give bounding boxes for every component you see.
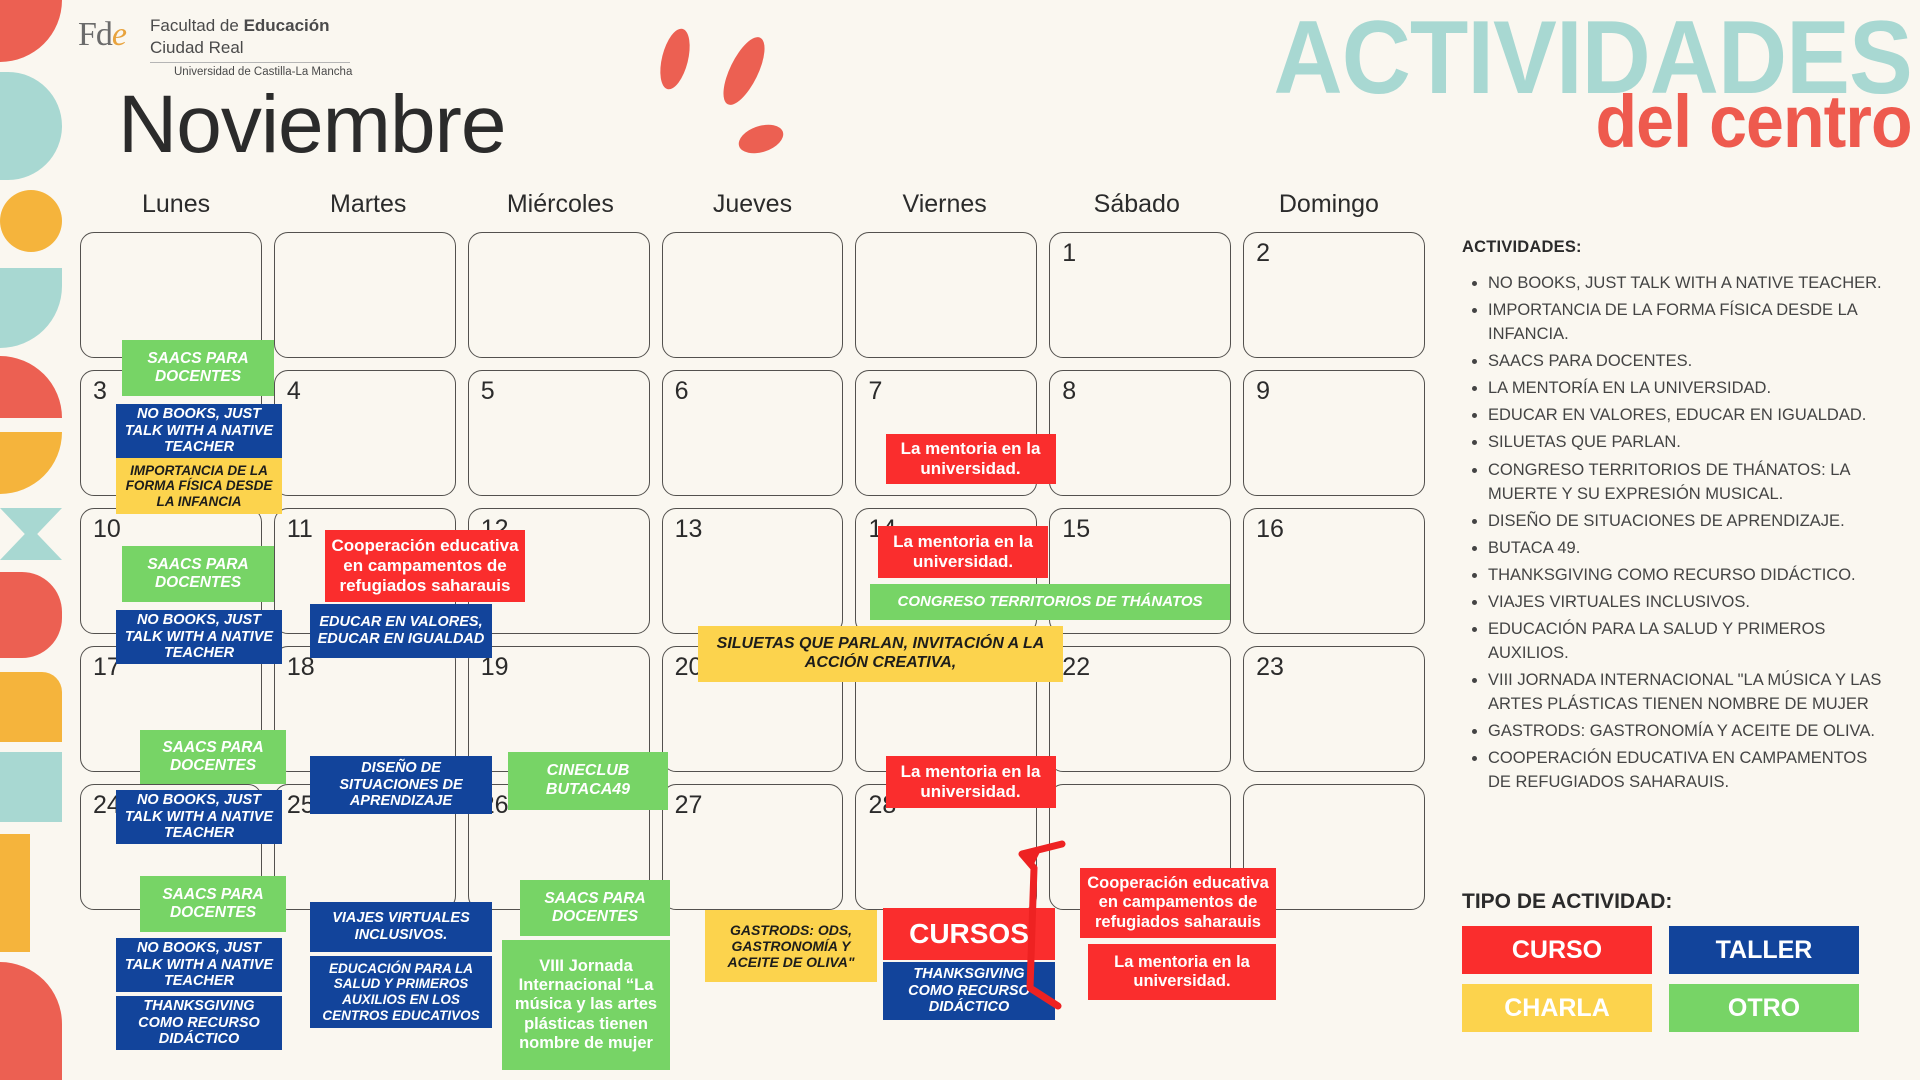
legend-item-charla[interactable]: CHARLA [1462, 984, 1652, 1032]
decorative-side-strip [0, 0, 62, 1080]
list-item: EDUCAR EN VALORES, EDUCAR EN IGUALDAD. [1488, 403, 1892, 427]
day-number: 9 [1256, 377, 1270, 406]
petal-icon-1 [655, 26, 695, 92]
day-cell[interactable]: 8 [1049, 370, 1231, 496]
day-cell[interactable] [662, 232, 844, 358]
logo-monogram-e: e [112, 16, 126, 53]
deco-shape-teal-half [0, 72, 62, 180]
day-cell[interactable]: 27 [662, 784, 844, 910]
deco-shape-red-wedge [0, 356, 62, 418]
day-cell[interactable]: 23 [1243, 646, 1425, 772]
petal-icon-2 [715, 32, 773, 111]
logo-line-1-pre: Facultad de [150, 16, 244, 35]
day-number: 1 [1062, 239, 1076, 268]
list-item: GASTRODS: GASTRONOMÍA Y ACEITE DE OLIVA. [1488, 719, 1892, 743]
day-number: 23 [1256, 653, 1284, 682]
arrow-icon [1010, 838, 1070, 1018]
day-number: 22 [1062, 653, 1090, 682]
logo-divider [150, 62, 350, 63]
day-number: 13 [675, 515, 703, 544]
deco-shape-teal-quarter [0, 268, 62, 348]
event-chip[interactable]: EDUCACIÓN PARA LA SALUD Y PRIMEROS AUXIL… [310, 956, 492, 1028]
day-cell[interactable] [468, 232, 650, 358]
calendar-week-row: 1 2 [80, 232, 1425, 358]
day-cell[interactable]: 6 [662, 370, 844, 496]
event-chip[interactable]: La mentoria en la universidad. [886, 434, 1056, 484]
day-number: 5 [481, 377, 495, 406]
day-number: 10 [93, 515, 121, 544]
list-item: LA MENTORÍA EN LA UNIVERSIDAD. [1488, 376, 1892, 400]
day-cell[interactable]: 1 [1049, 232, 1231, 358]
event-chip[interactable]: NO BOOKS, JUST TALK WITH A NATIVE TEACHE… [116, 790, 282, 844]
legend-item-curso[interactable]: CURSO [1462, 926, 1652, 974]
event-chip[interactable]: SILUETAS QUE PARLAN, INVITACIÓN A LA ACC… [698, 626, 1063, 682]
list-item: VIII JORNADA INTERNACIONAL "LA MÚSICA Y … [1488, 668, 1892, 716]
deco-shape-yellow-circle [0, 190, 62, 252]
event-chip[interactable]: La mentoria en la universidad. [878, 526, 1048, 578]
logo-university: Universidad de Castilla-La Mancha [174, 66, 352, 78]
deco-shape-red-bottom [0, 962, 62, 1080]
weekday-lunes: Lunes [80, 190, 272, 226]
event-chip[interactable]: Cooperación educativa en campamentos de … [1080, 868, 1276, 938]
logo-line-1-bold: Educación [244, 16, 330, 35]
deco-shape-red-rounded [0, 572, 62, 658]
list-item: VIAJES VIRTUALES INCLUSIVOS. [1488, 590, 1892, 614]
event-chip[interactable]: NO BOOKS, JUST TALK WITH A NATIVE TEACHE… [116, 404, 282, 458]
event-chip[interactable]: La mentoria en la universidad. [886, 756, 1056, 808]
calendar-grid: 1 2 3 4 5 6 7 8 9 10 11 12 13 14 15 16 1… [80, 232, 1425, 910]
deco-shape-yellow-bar [0, 834, 30, 952]
event-chip[interactable]: SAACS PARA DOCENTES [122, 340, 274, 396]
event-chip[interactable]: DISEÑO DE SITUACIONES DE APRENDIZAJE [310, 756, 492, 814]
logo-monogram-fd: Fd [78, 16, 112, 53]
deco-shape-teal-x [0, 508, 62, 560]
day-cell[interactable]: 16 [1243, 508, 1425, 634]
day-number: 16 [1256, 515, 1284, 544]
event-chip[interactable]: CONGRESO TERRITORIOS DE THÁNATOS [870, 584, 1230, 620]
poster-title: ACTIVIDADES del centro [1212, 6, 1912, 186]
event-chip[interactable]: THANKSGIVING COMO RECURSO DIDÁCTICO [116, 996, 282, 1050]
weekday-martes: Martes [272, 190, 464, 226]
event-chip[interactable]: SAACS PARA DOCENTES [140, 876, 286, 932]
day-cell[interactable]: 22 [1049, 646, 1231, 772]
legend-heading: TIPO DE ACTIVIDAD: [1462, 890, 1870, 914]
event-chip[interactable]: La mentoria en la universidad. [1088, 944, 1276, 1000]
day-number: 2 [1256, 239, 1270, 268]
day-number: 6 [675, 377, 689, 406]
logo-line-2: Ciudad Real [150, 38, 244, 58]
list-item: SILUETAS QUE PARLAN. [1488, 430, 1892, 454]
day-cell[interactable]: 9 [1243, 370, 1425, 496]
day-cell[interactable]: 13 [662, 508, 844, 634]
event-chip[interactable]: Cooperación educativa en campamentos de … [325, 530, 525, 602]
day-number: 15 [1062, 515, 1090, 544]
event-chip[interactable]: SAACS PARA DOCENTES [520, 880, 670, 936]
day-number: 8 [1062, 377, 1076, 406]
event-chip[interactable]: SAACS PARA DOCENTES [122, 546, 274, 602]
list-item: EDUCACIÓN PARA LA SALUD Y PRIMEROS AUXIL… [1488, 617, 1892, 665]
list-item: SAACS PARA DOCENTES. [1488, 349, 1892, 373]
event-chip[interactable]: GASTRODS: ODS, GASTRONOMÍA Y ACEITE DE O… [705, 910, 877, 982]
day-cell[interactable] [274, 232, 456, 358]
event-chip[interactable]: NO BOOKS, JUST TALK WITH A NATIVE TEACHE… [116, 938, 282, 992]
deco-shape-teal-block [0, 752, 62, 822]
list-item: IMPORTANCIA DE LA FORMA FÍSICA DESDE LA … [1488, 298, 1892, 346]
page-title-month: Noviembre [118, 78, 505, 172]
event-chip[interactable]: SAACS PARA DOCENTES [140, 730, 286, 784]
day-cell[interactable] [855, 232, 1037, 358]
petal-icon-3 [735, 120, 787, 159]
event-chip[interactable]: NO BOOKS, JUST TALK WITH A NATIVE TEACHE… [116, 610, 282, 664]
legend-item-otro[interactable]: OTRO [1669, 984, 1859, 1032]
deco-shape-yellow-quarter [0, 432, 62, 494]
list-item: COOPERACIÓN EDUCATIVA EN CAMPAMENTOS DE … [1488, 746, 1892, 794]
day-number: 7 [868, 377, 882, 406]
activities-list: NO BOOKS, JUST TALK WITH A NATIVE TEACHE… [1462, 271, 1892, 795]
day-cell[interactable]: 5 [468, 370, 650, 496]
poster-title-line-2: del centro [1596, 86, 1912, 158]
day-cell[interactable]: 18 [274, 646, 456, 772]
faculty-logo: Fde Facultad de Educación Ciudad Real Un… [78, 10, 408, 80]
weekday-viernes: Viernes [849, 190, 1041, 226]
weekday-jueves: Jueves [656, 190, 848, 226]
event-chip[interactable]: IMPORTANCIA DE LA FORMA FÍSICA DESDE LA … [116, 458, 282, 514]
list-item: CONGRESO TERRITORIOS DE THÁNATOS: LA MUE… [1488, 458, 1892, 506]
logo-line-1: Facultad de Educación [150, 16, 330, 36]
weekday-miercoles: Miércoles [464, 190, 656, 226]
event-chip[interactable]: VIAJES VIRTUALES INCLUSIVOS. [310, 902, 492, 952]
activities-heading: ACTIVIDADES: [1462, 238, 1892, 257]
list-item: THANKSGIVING COMO RECURSO DIDÁCTICO. [1488, 563, 1892, 587]
weekday-domingo: Domingo [1233, 190, 1425, 226]
logo-monogram: Fde [78, 16, 126, 54]
day-number: 4 [287, 377, 301, 406]
day-cell[interactable]: 2 [1243, 232, 1425, 358]
calendar: Lunes Martes Miércoles Jueves Viernes Sá… [80, 190, 1425, 1050]
list-item: DISEÑO DE SITUACIONES DE APRENDIZAJE. [1488, 509, 1892, 533]
day-number: 3 [93, 377, 107, 406]
legend-item-taller[interactable]: TALLER [1669, 926, 1859, 974]
day-cell[interactable]: 4 [274, 370, 456, 496]
weekday-sabado: Sábado [1041, 190, 1233, 226]
legend-grid: CURSO TALLER CHARLA OTRO [1462, 926, 1870, 1032]
activities-panel: ACTIVIDADES: NO BOOKS, JUST TALK WITH A … [1462, 238, 1892, 798]
activity-type-legend: TIPO DE ACTIVIDAD: CURSO TALLER CHARLA O… [1462, 890, 1870, 1032]
calendar-weekday-header: Lunes Martes Miércoles Jueves Viernes Sá… [80, 190, 1425, 226]
event-chip[interactable]: EDUCAR EN VALORES, EDUCAR EN IGUALDAD [310, 604, 492, 658]
list-item: NO BOOKS, JUST TALK WITH A NATIVE TEACHE… [1488, 271, 1892, 295]
list-item: BUTACA 49. [1488, 536, 1892, 560]
event-chip[interactable]: CINECLUB BUTACA49 [508, 752, 668, 810]
day-number: 27 [675, 791, 703, 820]
deco-shape-yellow-block [0, 672, 62, 742]
event-chip[interactable]: VIII Jornada Internacional “La música y … [502, 940, 670, 1070]
deco-shape-red-quarter [0, 0, 62, 62]
day-number: 11 [287, 515, 313, 544]
